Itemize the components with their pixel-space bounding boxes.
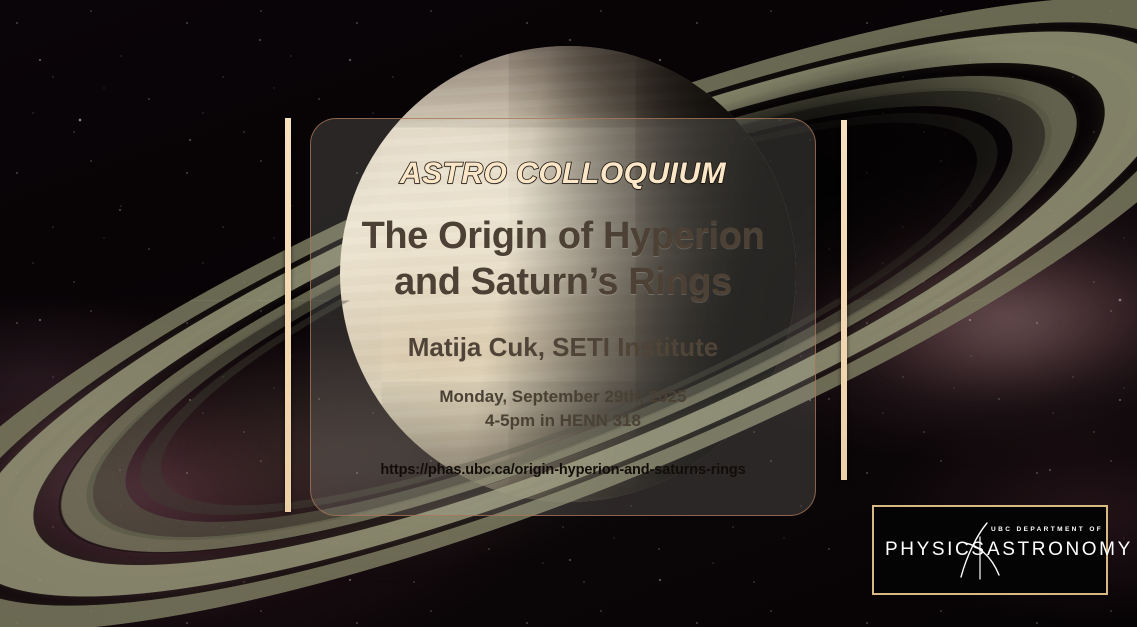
accent-bar-right [841,120,847,480]
event-details-card: ASTRO COLLOQUIUM The Origin of Hyperion … [310,118,816,516]
talk-title-line-1: The Origin of Hyperion [362,213,765,259]
event-date: Monday, September 29th, 2025 [439,385,686,410]
event-url[interactable]: https://phas.ubc.ca/origin-hyperion-and-… [380,462,745,478]
colloquium-poster: ASTRO COLLOQUIUM The Origin of Hyperion … [0,0,1137,627]
accent-bar-left [285,118,291,512]
logo-word-astronomy: ASTRONOMY [987,539,1133,561]
logo-department-kicker: UBC DEPARTMENT OF [991,526,1103,533]
ubc-physics-astronomy-logo: PHYSICS UBC DEPARTMENT OF ASTRONOMY [872,505,1108,595]
event-category-label: ASTRO COLLOQUIUM [400,157,726,191]
talk-title-line-2: and Saturn’s Rings [362,259,765,305]
speaker-name-and-affiliation: Matija Cuk, SETI Institute [408,332,719,363]
talk-title: The Origin of Hyperion and Saturn’s Ring… [362,213,765,306]
event-datetime-block: Monday, September 29th, 2025 4-5pm in HE… [439,385,686,434]
event-time-and-location: 4-5pm in HENN 318 [439,409,686,434]
